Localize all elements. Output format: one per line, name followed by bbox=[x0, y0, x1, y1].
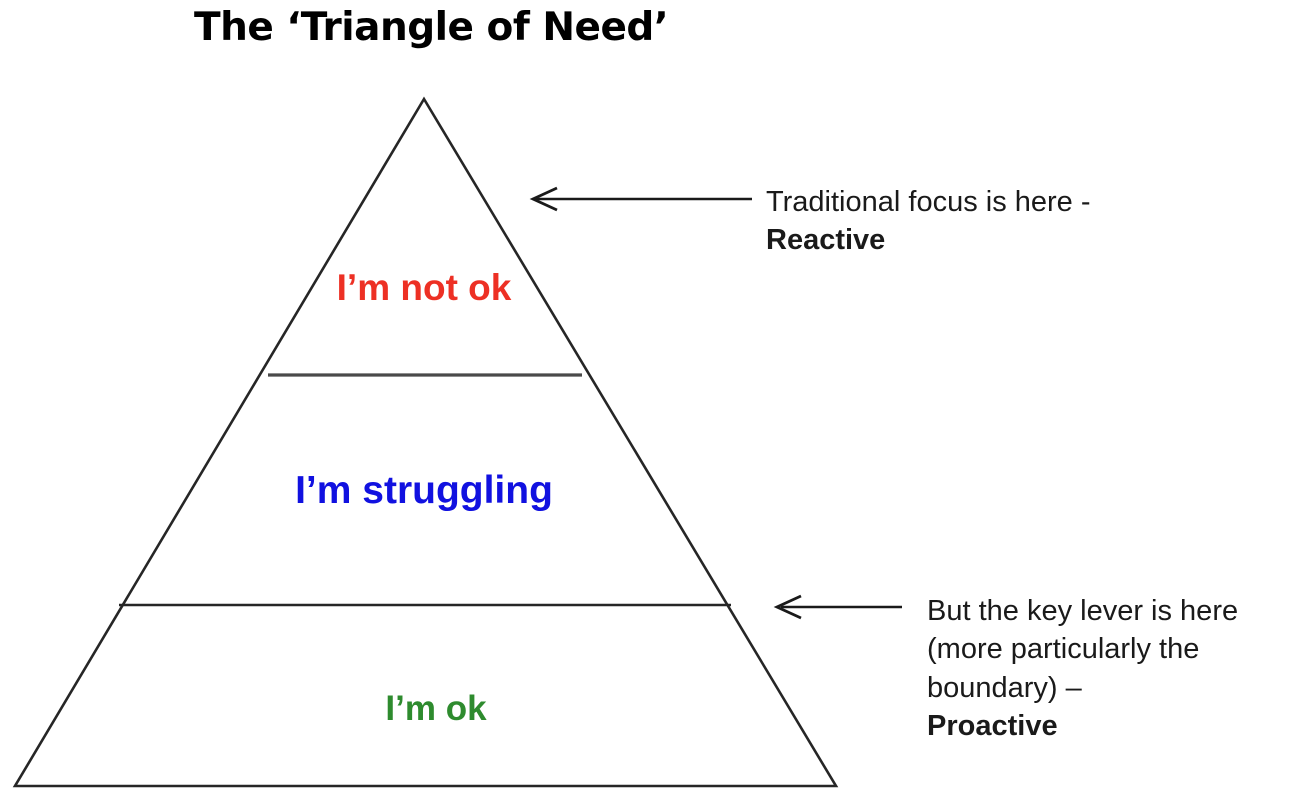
annotation-bottom-line1: But the key lever is here bbox=[927, 592, 1238, 630]
tier-label-ok: I’m ok bbox=[385, 691, 486, 726]
annotation-bottom-line3: boundary) – bbox=[927, 669, 1238, 707]
arrow-bottom bbox=[777, 596, 902, 618]
tier-label-not-ok: I’m not ok bbox=[337, 269, 512, 306]
arrow-top bbox=[533, 188, 752, 210]
pyramid-outline bbox=[15, 99, 836, 786]
annotation-proactive: But the key lever is here (more particul… bbox=[927, 592, 1238, 745]
tier-label-struggling: I’m struggling bbox=[295, 471, 553, 510]
annotation-reactive: Traditional focus is here - Reactive bbox=[766, 183, 1091, 260]
annotation-top-emphasis: Reactive bbox=[766, 221, 1091, 259]
annotation-bottom-emphasis: Proactive bbox=[927, 707, 1238, 745]
annotation-top-line1: Traditional focus is here - bbox=[766, 183, 1091, 221]
diagram-canvas: The ‘Triangle of Need’ I’m not ok I’m st… bbox=[0, 0, 1307, 795]
annotation-bottom-line2: (more particularly the bbox=[927, 630, 1238, 668]
